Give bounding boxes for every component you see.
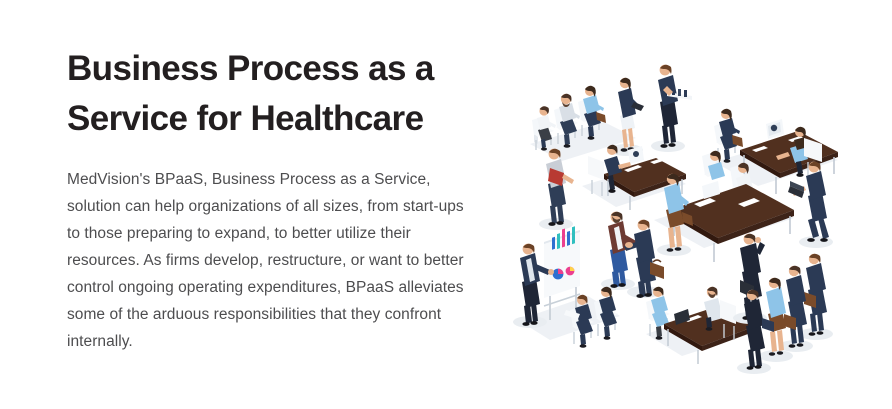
hero-section: Business Process as a Service for Health… xyxy=(0,0,892,409)
phone-hand xyxy=(755,237,761,243)
isometric-people-illustration xyxy=(508,34,884,380)
hero-description: MedVision's BPaaS, Business Process as a… xyxy=(67,144,479,355)
illustration-canvas xyxy=(508,34,884,380)
hero-text-column: Business Process as a Service for Health… xyxy=(67,44,482,355)
page-title: Business Process as a Service for Health… xyxy=(67,44,467,144)
